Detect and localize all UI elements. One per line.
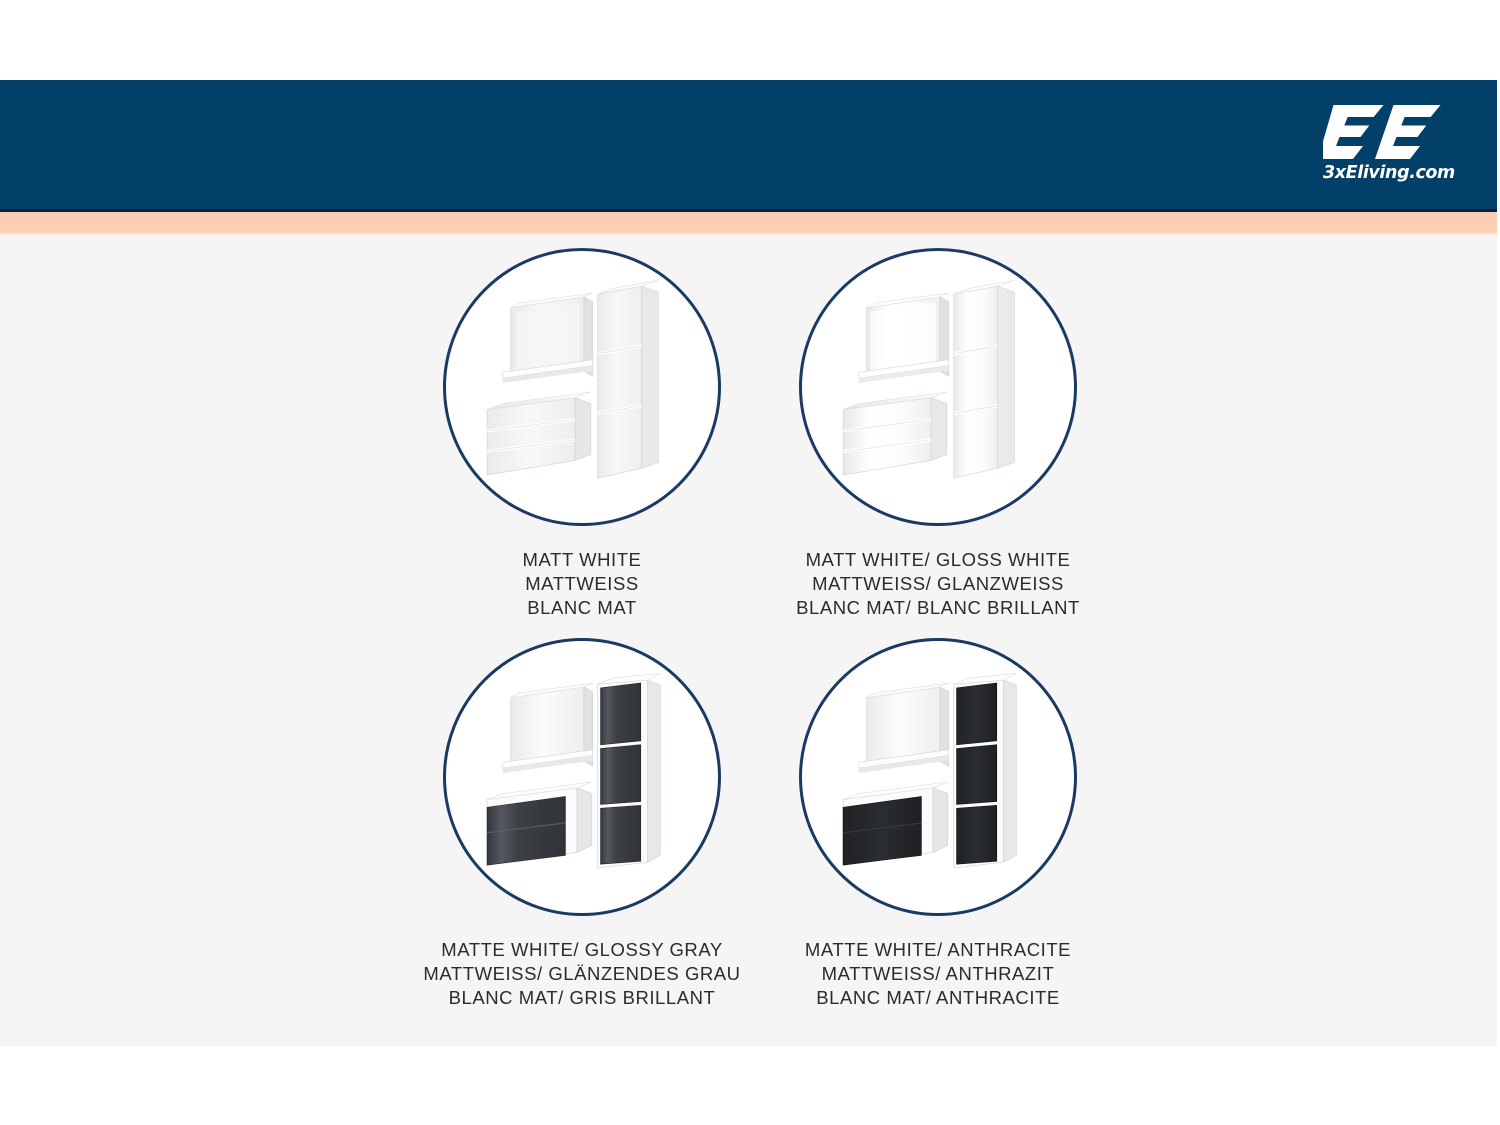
variant-image-circle — [799, 248, 1077, 526]
caption-line-en: MATTE WHITE/ ANTHRACITE — [768, 938, 1108, 962]
variant-image-circle — [443, 248, 721, 526]
furniture-set-illustration — [446, 641, 718, 913]
variant-caption: MATTE WHITE/ ANTHRACITE MATTWEISS/ ANTHR… — [768, 938, 1108, 1010]
caption-line-en: MATTE WHITE/ GLOSSY GRAY — [412, 938, 752, 962]
vanity-2-drawer — [487, 782, 592, 865]
tall-column-3-door — [954, 280, 1015, 478]
caption-line-de: MATTWEISS/ GLÄNZENDES GRAU — [412, 962, 752, 986]
furniture-set-illustration — [446, 251, 718, 523]
caption-line-fr: BLANC MAT/ ANTHRACITE — [768, 986, 1108, 1010]
tall-column-3-door — [954, 673, 1017, 868]
caption-line-fr: BLANC MAT/ GRIS BRILLANT — [412, 986, 752, 1010]
variant-card[interactable]: MATTE WHITE/ GLOSSY GRAY MATTWEISS/ GLÄN… — [412, 638, 752, 1010]
header-banner — [0, 80, 1497, 209]
accent-strip — [0, 212, 1497, 233]
variant-card[interactable]: MATT WHITE MATTWEISS BLANC MAT — [412, 248, 752, 620]
vanity-2-drawer — [843, 392, 947, 475]
caption-line-de: MATTWEISS/ GLANZWEISS — [768, 572, 1108, 596]
wall-mirror-cabinet — [503, 293, 593, 383]
variant-image-circle — [443, 638, 721, 916]
furniture-set-illustration — [802, 251, 1074, 523]
variant-caption: MATTE WHITE/ GLOSSY GRAY MATTWEISS/ GLÄN… — [412, 938, 752, 1010]
variant-caption: MATT WHITE/ GLOSS WHITE MATTWEISS/ GLANZ… — [768, 548, 1108, 620]
tall-column-3-door — [598, 280, 659, 478]
variant-caption: MATT WHITE MATTWEISS BLANC MAT — [412, 548, 752, 620]
caption-line-en: MATT WHITE/ GLOSS WHITE — [768, 548, 1108, 572]
page-root: 3xEliving.com — [0, 0, 1500, 1125]
vanity-2-drawer — [487, 392, 591, 475]
caption-line-fr: BLANC MAT — [412, 596, 752, 620]
caption-line-en: MATT WHITE — [412, 548, 752, 572]
wall-mirror-cabinet — [859, 293, 949, 383]
3e-logo-icon — [1323, 101, 1445, 163]
variant-card[interactable]: MATT WHITE/ GLOSS WHITE MATTWEISS/ GLANZ… — [768, 248, 1108, 620]
variant-image-circle — [799, 638, 1077, 916]
logo-wordmark: 3xEliving.com — [1323, 165, 1445, 183]
content-area: MATT WHITE MATTWEISS BLANC MAT — [0, 238, 1497, 1046]
brand-logo[interactable]: 3xEliving.com — [1323, 101, 1445, 193]
wall-mirror-cabinet — [503, 683, 593, 773]
caption-line-de: MATTWEISS/ ANTHRAZIT — [768, 962, 1108, 986]
furniture-set-illustration — [802, 641, 1074, 913]
caption-line-de: MATTWEISS — [412, 572, 752, 596]
variant-card[interactable]: MATTE WHITE/ ANTHRACITE MATTWEISS/ ANTHR… — [768, 638, 1108, 1010]
tall-column-3-door — [598, 673, 661, 868]
wall-mirror-cabinet — [859, 683, 949, 773]
caption-line-fr: BLANC MAT/ BLANC BRILLANT — [768, 596, 1108, 620]
vanity-2-drawer — [843, 782, 948, 865]
variant-grid: MATT WHITE MATTWEISS BLANC MAT — [0, 238, 1497, 1046]
